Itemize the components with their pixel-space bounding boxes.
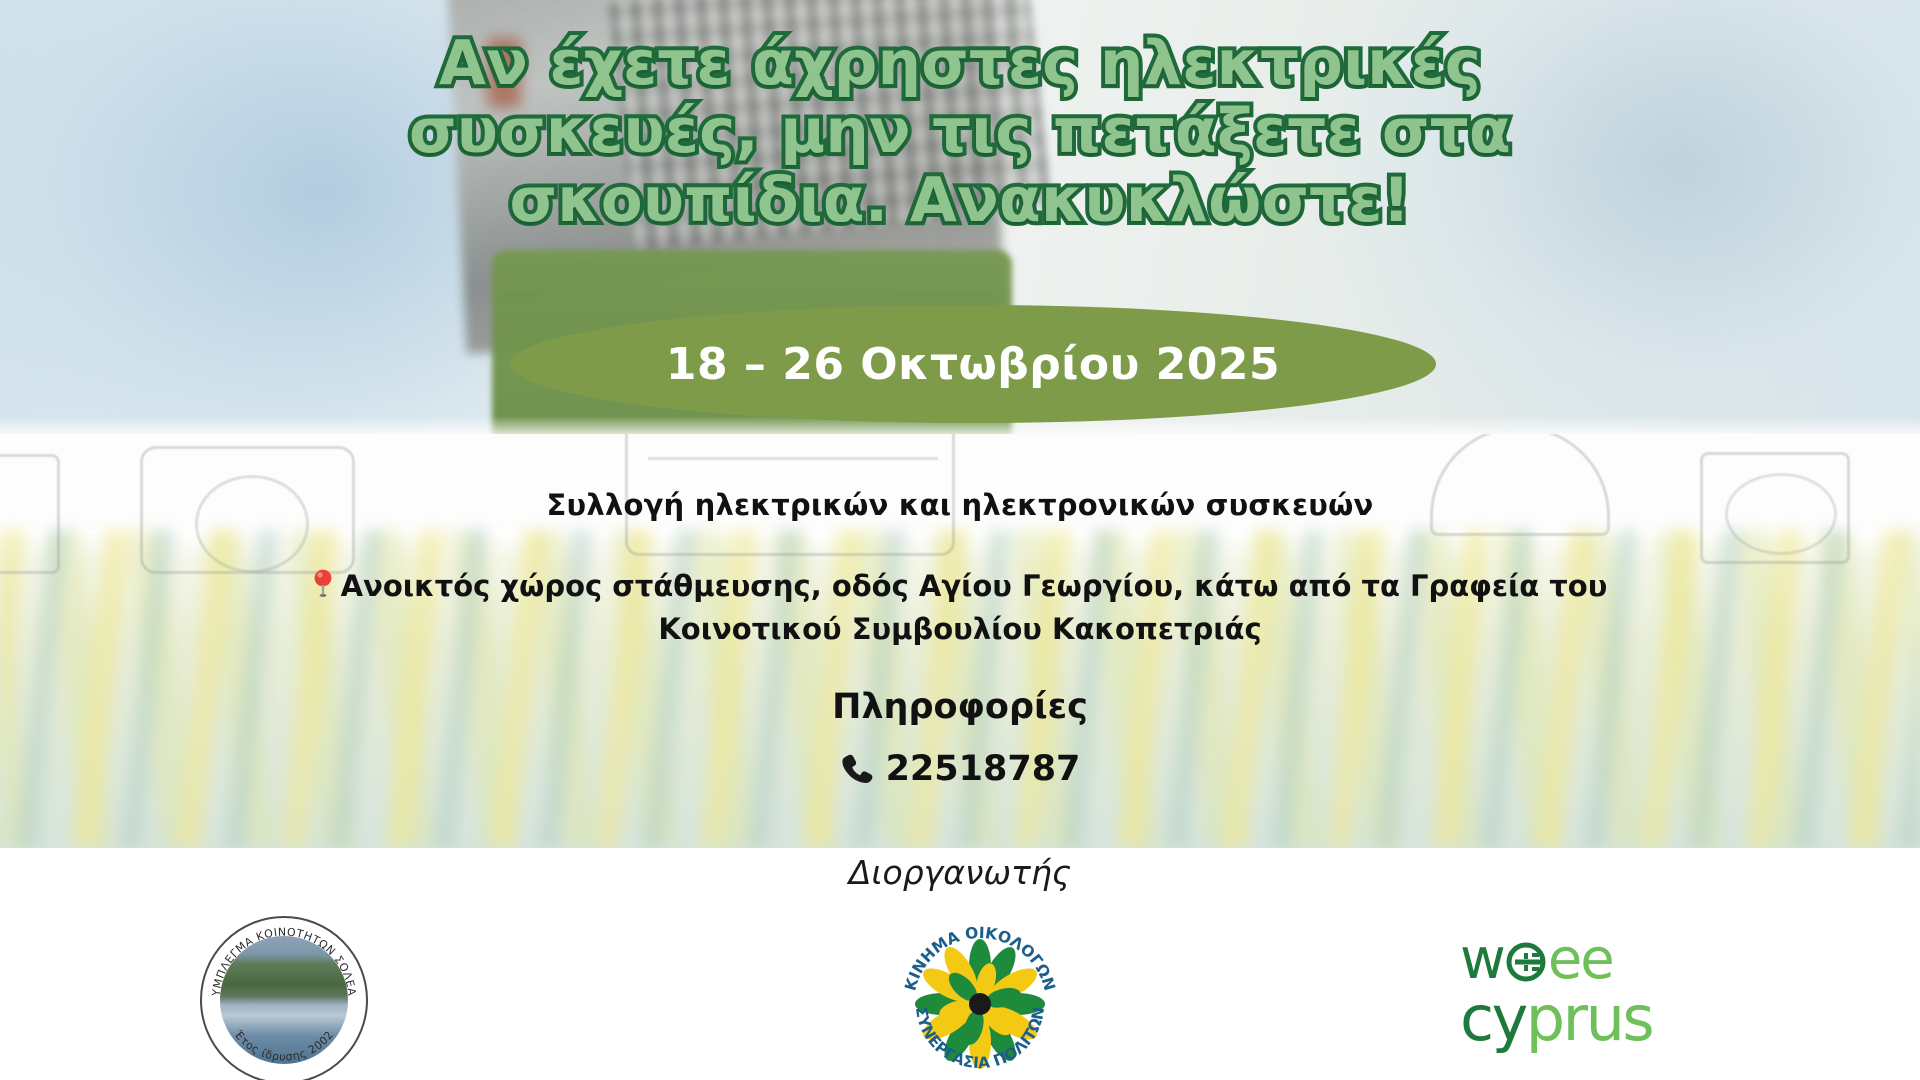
organizer-label: Διοργανωτής [0, 853, 1920, 892]
plug-icon [1505, 939, 1547, 981]
map-pin-icon [313, 569, 333, 609]
seal-top-text: ΣΥΜΠΛΕΓΜΑ ΚΟΙΝΟΤΗΤΩΝ ΣΟΛΕΑΣ [202, 918, 358, 998]
details-band: Συλλογή ηλεκτρικών και ηλεκτρονικών συσκ… [0, 434, 1920, 848]
telephone-receiver-icon [840, 752, 874, 786]
address-line-2: Κοινοτικού Συμβουλίου Κακοπετριάς [658, 612, 1261, 646]
date-banner: 18 – 26 Οκτωβρίου 2025 [510, 305, 1436, 423]
phone-number: 22518787 [886, 749, 1081, 789]
phone-row[interactable]: 22518787 [0, 749, 1920, 789]
seal-ring-text: ΣΥΜΠΛΕΓΜΑ ΚΟΙΝΟΤΗΤΩΝ ΣΟΛΕΑΣ Έτος ίδρυσης… [202, 918, 366, 1080]
weee-wordmark-line1: wee [1460, 934, 1710, 987]
headline-line-3: σκουπίδια. Ανακυκλώστε! [0, 167, 1920, 235]
logo-row: ΣΥΜΠΛΕΓΜΑ ΚΟΙΝΟΤΗΤΩΝ ΣΟΛΕΑΣ Έτος ίδρυσης… [0, 908, 1920, 1080]
address-line-1: Ανοικτός χώρος στάθμευσης, οδός Αγίου Γε… [341, 569, 1608, 603]
kinima-oikologon-logo: ΚΙΝΗΜΑ ΟΙΚΟΛΟΓΩΝ ΣΥΝΕΡΓΑΣΙΑ ΠΟΛΙΤΩΝ [880, 908, 1080, 1080]
collection-subtitle: Συλλογή ηλεκτρικών και ηλεκτρονικών συσκ… [0, 488, 1920, 522]
weee-wordmark-line2: cyprus [1460, 989, 1710, 1049]
recycling-poster: Αν έχετε άχρηστες ηλεκτρικές συσκευές, μ… [0, 0, 1920, 1080]
headline-line-1: Αν έχετε άχρηστες ηλεκτρικές [0, 30, 1920, 98]
details-content: Συλλογή ηλεκτρικών και ηλεκτρονικών συσκ… [0, 434, 1920, 789]
seal-bottom-text: Έτος ίδρυσης 2002 [231, 1028, 336, 1064]
page-title: Αν έχετε άχρηστες ηλεκτρικές συσκευές, μ… [0, 30, 1920, 235]
info-heading: Πληροφορίες [0, 687, 1920, 727]
symplegma-koinotiton-soleas-seal: ΣΥΜΠΛΕΓΜΑ ΚΟΙΝΟΤΗΤΩΝ ΣΟΛΕΑΣ Έτος ίδρυσης… [200, 916, 368, 1080]
date-banner-text: 18 – 26 Οκτωβρίου 2025 [666, 339, 1280, 390]
address-block: Ανοικτός χώρος στάθμευσης, οδός Αγίου Γε… [0, 566, 1920, 649]
footer-band: Διοργανωτής ΣΥΜΠΛΕΓΜΑ ΚΟΙΝΟΤΗΤΩΝ ΣΟΛΕΑΣ [0, 848, 1920, 1080]
headline-line-2: συσκευές, μην τις πετάξετε στα [0, 98, 1920, 166]
weee-cyprus-logo: wee cyprus [1460, 934, 1710, 1058]
